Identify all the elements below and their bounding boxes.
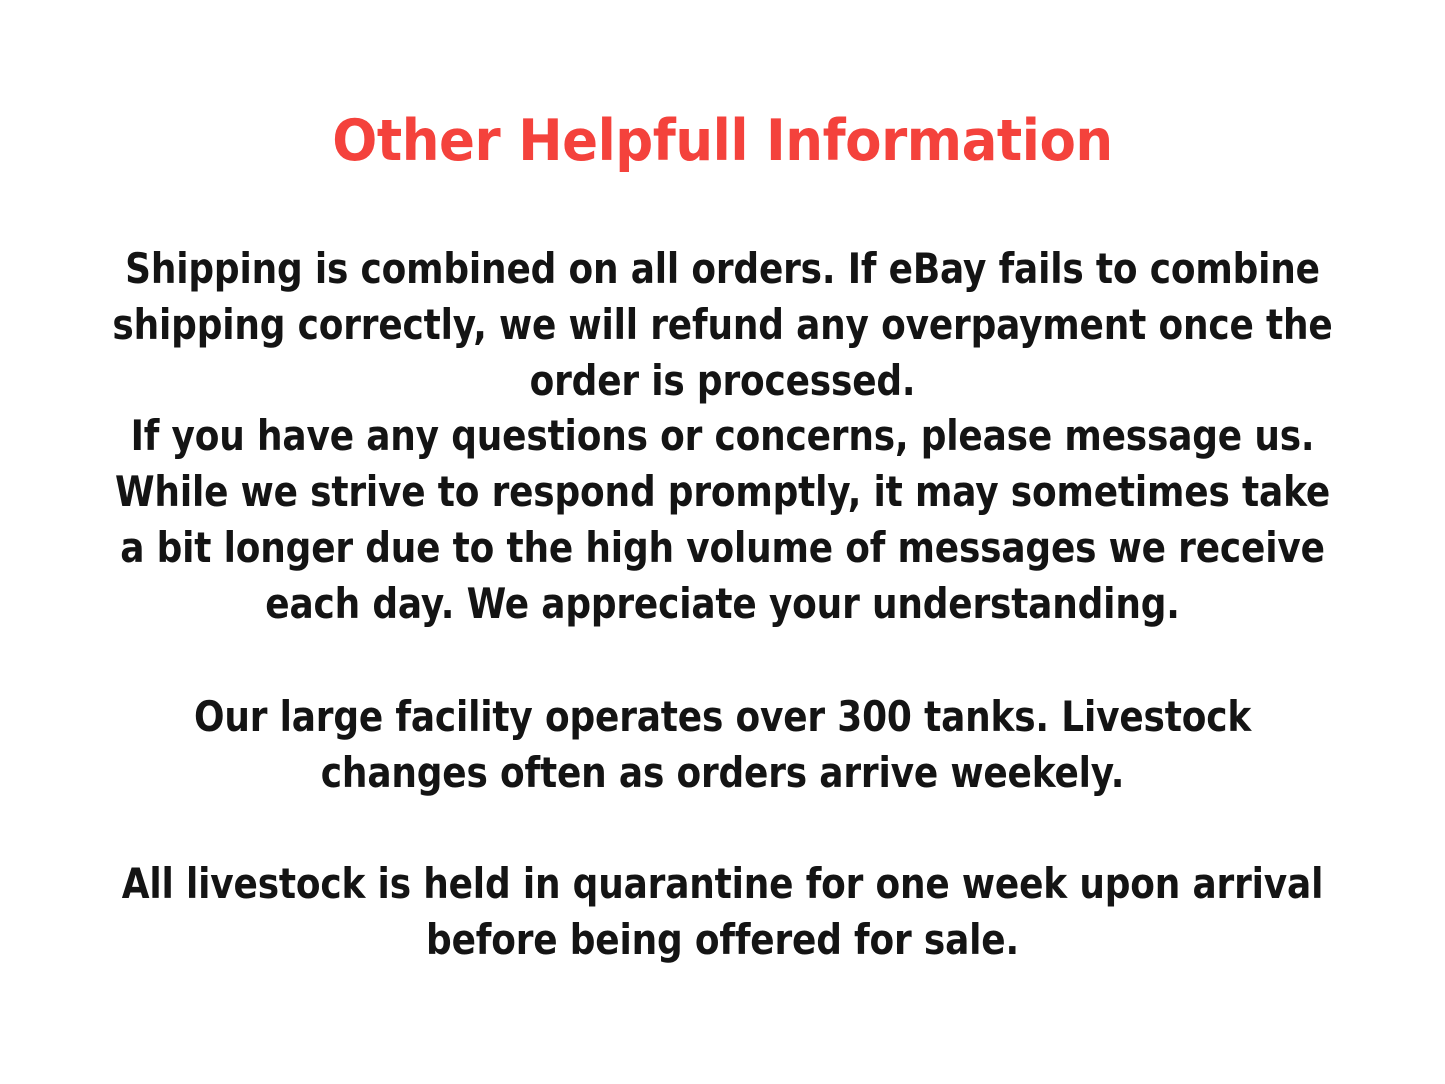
paragraph-shipping-combined: Shipping is combined on all orders. If e… [0,241,1445,409]
page-title: Other Helpfull Information [51,106,1395,176]
paragraph-facility-tanks: Our large facility operates over 300 tan… [0,689,1445,801]
paragraph-text: Our large facility operates over 300 tan… [105,689,1340,801]
info-page: Other Helpfull Information Shipping is c… [0,0,1445,1084]
paragraph-text: All livestock is held in quarantine for … [105,856,1340,968]
paragraph-message-response-time: If you have any questions or concerns, p… [0,408,1445,632]
paragraph-text: Shipping is combined on all orders. If e… [105,241,1340,409]
paragraph-text: If you have any questions or concerns, p… [105,408,1340,632]
paragraph-quarantine-policy: All livestock is held in quarantine for … [0,856,1445,968]
